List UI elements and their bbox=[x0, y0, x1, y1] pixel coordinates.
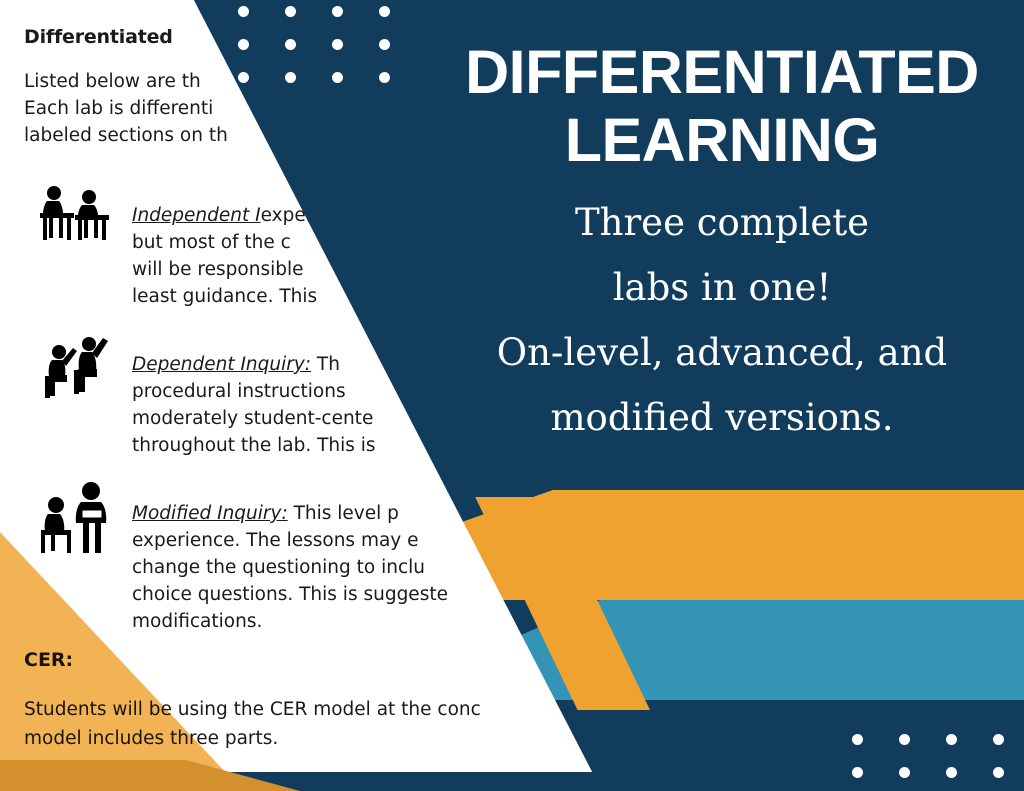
decorative-dot bbox=[993, 767, 1004, 778]
decorative-dot bbox=[238, 72, 249, 83]
inquiry-term-independent: Independent I bbox=[132, 205, 261, 226]
decorative-dot bbox=[899, 734, 910, 745]
decorative-dot bbox=[285, 72, 296, 83]
decorative-dot bbox=[285, 39, 296, 50]
decorative-dot bbox=[852, 767, 863, 778]
decorative-dot bbox=[332, 72, 343, 83]
decorative-dot bbox=[238, 6, 249, 17]
decorative-dot bbox=[993, 734, 1004, 745]
decorative-dot bbox=[285, 6, 296, 17]
dot-grid-bottom bbox=[852, 734, 1004, 778]
decorative-dot bbox=[379, 72, 390, 83]
decorative-dot bbox=[946, 767, 957, 778]
promo-subtitle: Three complete labs in one! On-level, ad… bbox=[420, 190, 1024, 450]
decorative-dot bbox=[332, 39, 343, 50]
promo-title: DIFFERENTIATED LEARNING bbox=[420, 38, 1024, 174]
decorative-dot bbox=[332, 6, 343, 17]
decorative-dot bbox=[379, 6, 390, 17]
slide-canvas: Differentiated Listed below are th Each … bbox=[0, 0, 1024, 791]
decorative-dot bbox=[238, 39, 249, 50]
decorative-dot bbox=[852, 734, 863, 745]
decorative-dot bbox=[946, 734, 957, 745]
students-at-desks-icon bbox=[24, 175, 132, 243]
raised-hands-students-icon bbox=[24, 324, 132, 400]
teacher-with-student-icon bbox=[24, 473, 132, 553]
promo-block: DIFFERENTIATED LEARNING Three complete l… bbox=[420, 20, 1024, 450]
inquiry-term-modified: Modified Inquiry: bbox=[132, 503, 288, 524]
dot-grid-top bbox=[238, 6, 390, 83]
decorative-dot bbox=[379, 39, 390, 50]
inquiry-term-dependent: Dependent Inquiry: bbox=[132, 354, 311, 375]
decorative-dot bbox=[899, 767, 910, 778]
